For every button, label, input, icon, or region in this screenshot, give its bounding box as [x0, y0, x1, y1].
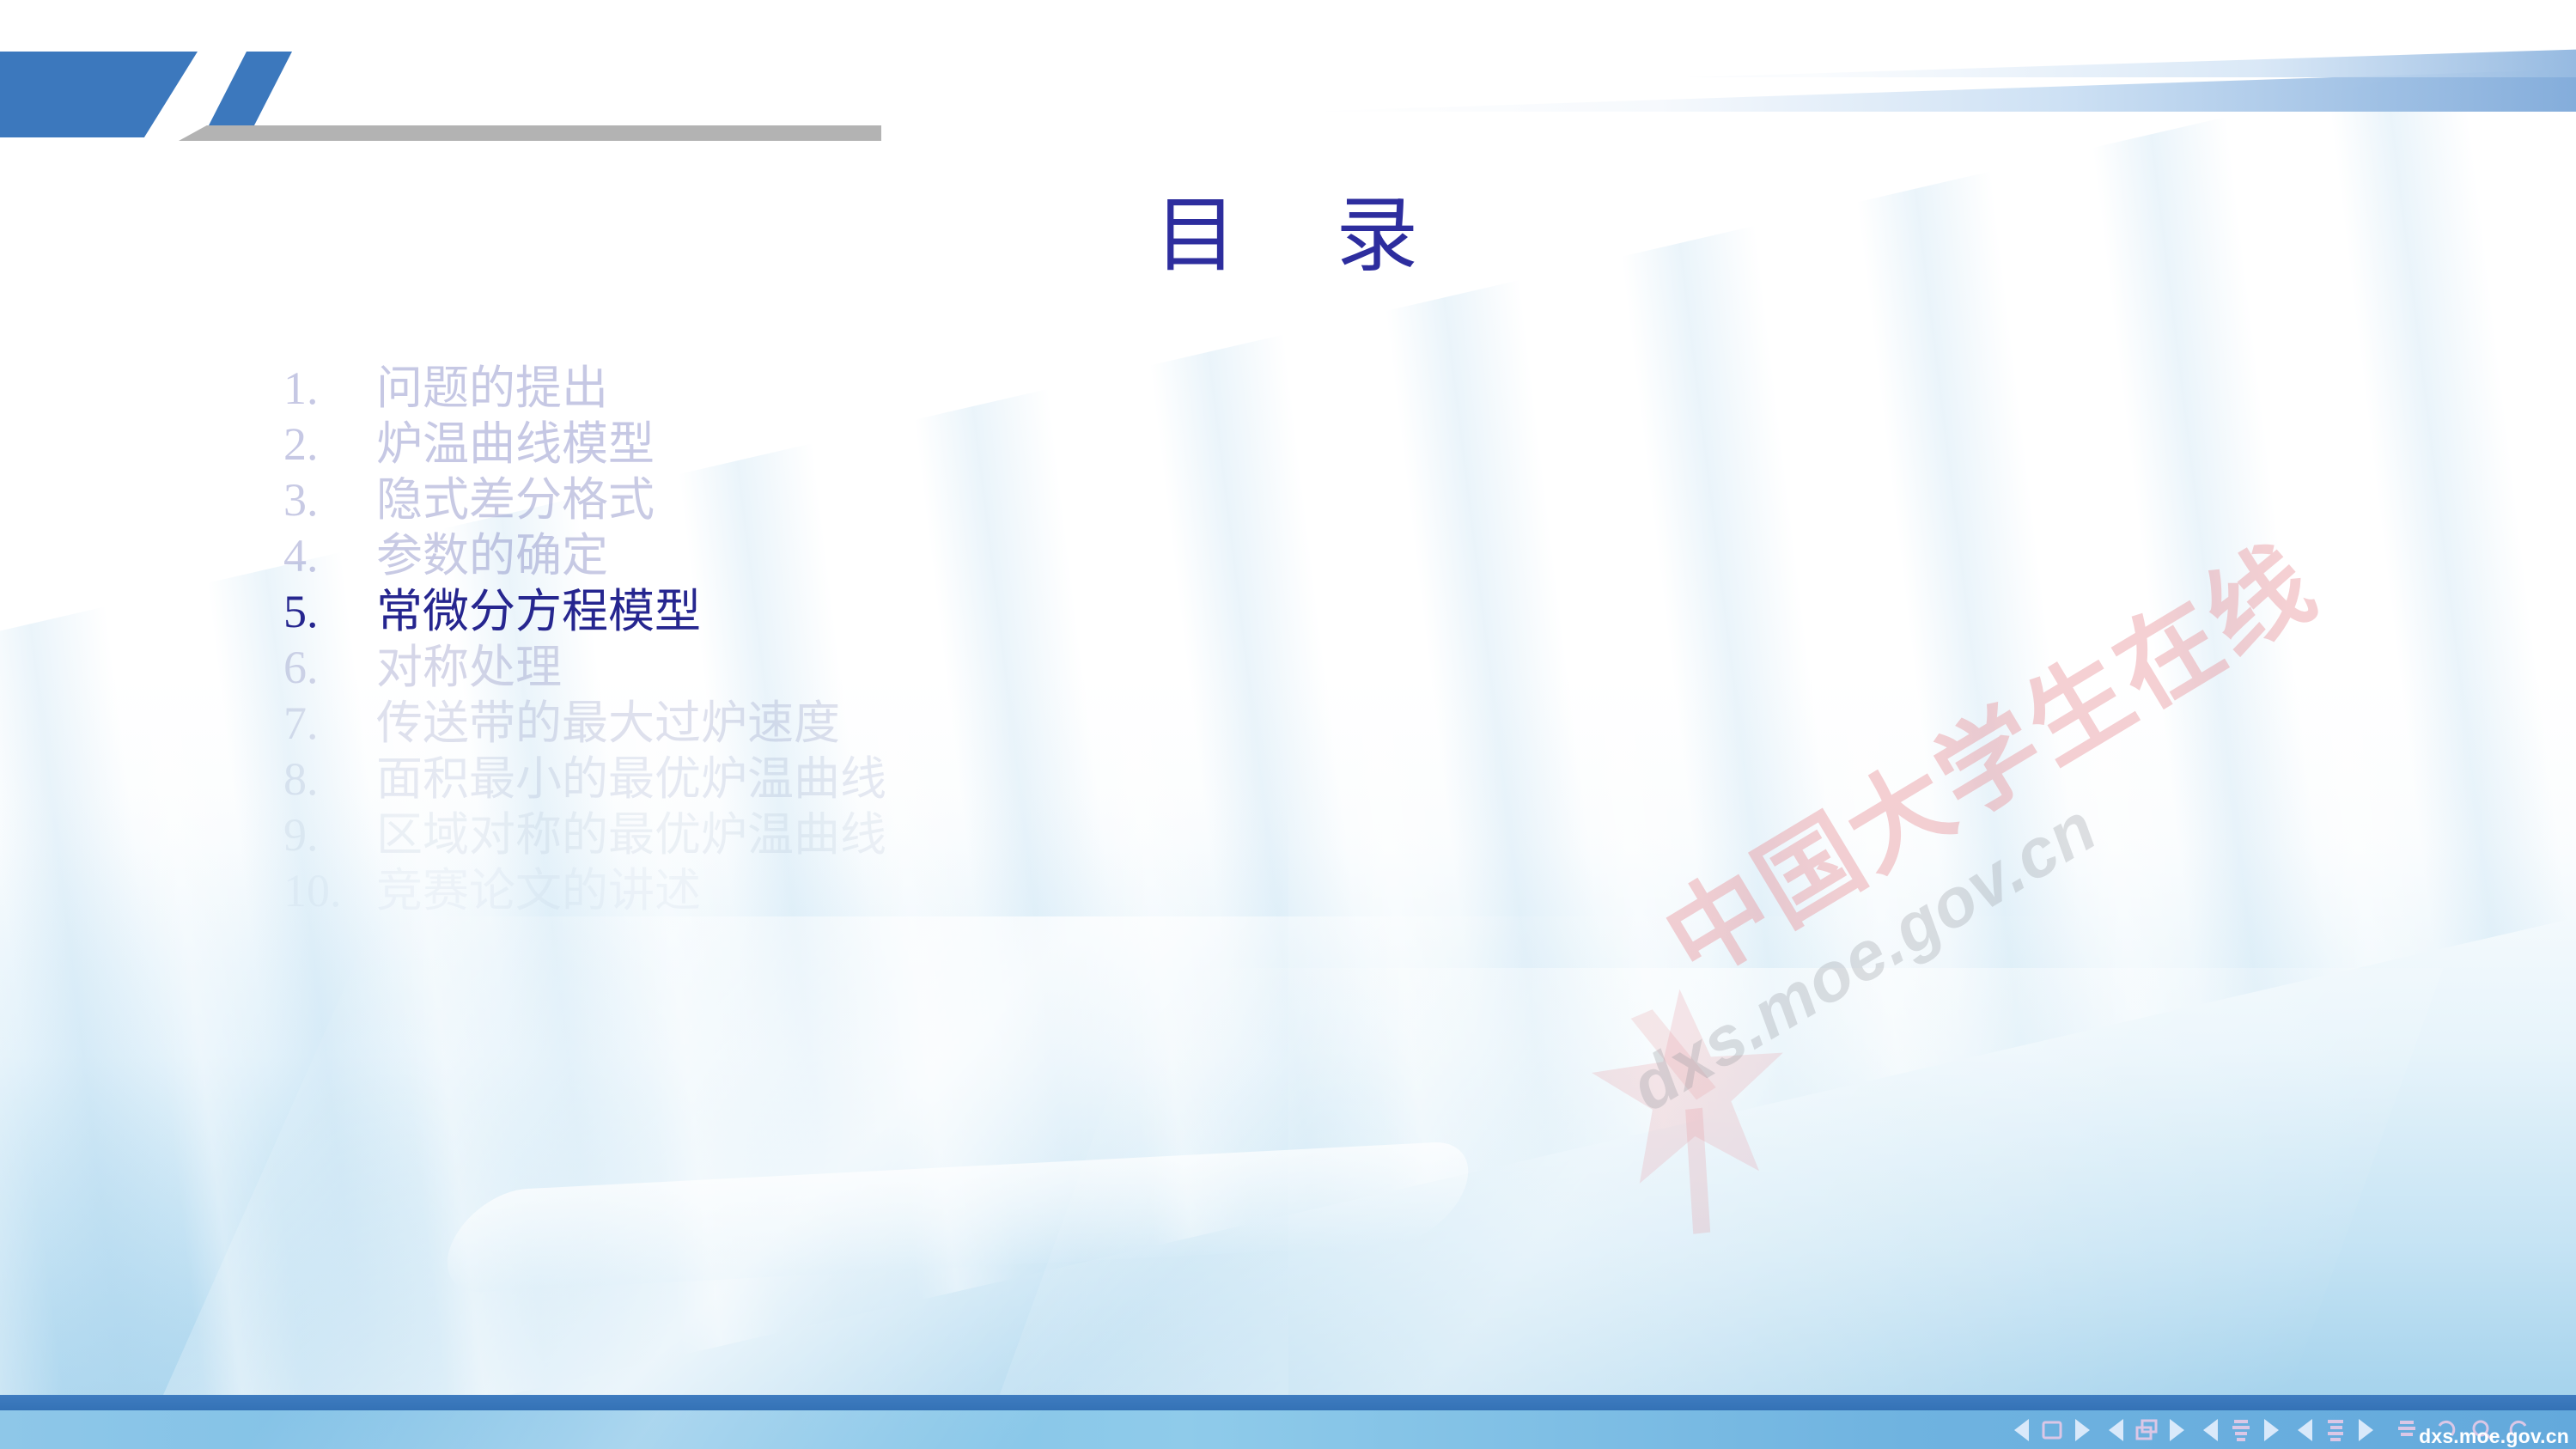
toc-item-number: 1.	[283, 361, 376, 417]
toc-item-1[interactable]: 1. 问题的提出	[283, 361, 1486, 417]
header-gradient-band-top	[1305, 0, 2576, 77]
toc-item-10[interactable]: 10. 竞赛论文的讲述	[283, 863, 1486, 919]
toc-item-label: 问题的提出	[376, 361, 608, 417]
toc-item-9[interactable]: 9. 区域对称的最优炉温曲线	[283, 807, 1486, 863]
text-lines-icon[interactable]	[2321, 1416, 2350, 1445]
next-outline-arrow-icon[interactable]	[2264, 1419, 2279, 1441]
toc-item-label: 对称处理	[376, 640, 562, 696]
footer-dark-bar	[0, 1395, 2576, 1410]
header-blue-parallelogram	[0, 52, 198, 137]
watermark: 中国大学生在线 dxs.moe.gov.cn	[1572, 601, 2560, 1254]
prev-slide-arrow-icon[interactable]	[2014, 1419, 2029, 1441]
toc-item-label: 传送带的最大过炉速度	[376, 696, 840, 752]
toc-item-number: 9.	[283, 807, 376, 863]
watermark-chinese-text: 中国大学生在线	[1634, 502, 2338, 1006]
toc-item-label: 参数的确定	[376, 528, 608, 584]
nav-group-outline[interactable]	[2203, 1416, 2279, 1445]
toc-item-7[interactable]: 7. 传送带的最大过炉速度	[283, 696, 1486, 752]
prev-text-arrow-icon[interactable]	[2298, 1419, 2312, 1441]
background-light-sweep-2	[992, 968, 2443, 1415]
toc-item-2[interactable]: 2. 炉温曲线模型	[283, 417, 1486, 472]
page-title: 目 录	[0, 191, 2576, 282]
prev-outline-arrow-icon[interactable]	[2203, 1419, 2218, 1441]
toc-item-label: 面积最小的最优炉温曲线	[376, 752, 886, 807]
next-slide-arrow-icon[interactable]	[2075, 1419, 2090, 1441]
single-slide-icon[interactable]	[2037, 1416, 2067, 1445]
nav-group-slide[interactable]	[2014, 1416, 2090, 1445]
list-icon[interactable]	[2392, 1416, 2421, 1445]
toc-item-label: 隐式差分格式	[376, 472, 655, 528]
background-ridge	[429, 1140, 1486, 1294]
background-light-sweep-1	[139, 916, 2180, 1449]
watermark-url-text: dxs.moe.gov.cn	[1617, 788, 2110, 1127]
header-blue-slash	[206, 52, 292, 125]
next-stack-arrow-icon[interactable]	[2170, 1419, 2184, 1441]
toc-item-4[interactable]: 4. 参数的确定	[283, 528, 1486, 584]
prev-stack-arrow-icon[interactable]	[2109, 1419, 2123, 1441]
footer-url-text: dxs.moe.gov.cn	[2419, 1425, 2569, 1448]
nav-group-text[interactable]	[2298, 1416, 2373, 1445]
toc-item-number: 5.	[283, 584, 376, 640]
toc-item-number: 6.	[283, 640, 376, 696]
toc-item-label: 炉温曲线模型	[376, 417, 655, 472]
outline-lines-icon[interactable]	[2226, 1416, 2256, 1445]
toc-item-number: 7.	[283, 696, 376, 752]
toc-item-number: 8.	[283, 752, 376, 807]
toc-item-label: 常微分方程模型	[376, 584, 701, 640]
toc-item-number: 10.	[283, 863, 376, 919]
toc-item-number: 3.	[283, 472, 376, 528]
toc-item-number: 4.	[283, 528, 376, 584]
dxs-star-logo-icon	[1576, 968, 1825, 1248]
toc-item-label: 区域对称的最优炉温曲线	[376, 807, 886, 863]
toc-item-8[interactable]: 8. 面积最小的最优炉温曲线	[283, 752, 1486, 807]
toc-item-6[interactable]: 6. 对称处理	[283, 640, 1486, 696]
toc-item-label: 竞赛论文的讲述	[376, 863, 701, 919]
slide-canvas: 目 录 1. 问题的提出 2. 炉温曲线模型 3. 隐式差分格式 4. 参数的确…	[0, 0, 2576, 1449]
next-text-arrow-icon[interactable]	[2359, 1419, 2373, 1441]
header-gray-bar	[179, 125, 881, 141]
nav-group-stacked[interactable]	[2109, 1416, 2184, 1445]
toc-list: 1. 问题的提出 2. 炉温曲线模型 3. 隐式差分格式 4. 参数的确定 5.…	[283, 361, 1486, 919]
toc-item-number: 2.	[283, 417, 376, 472]
toc-item-5-active[interactable]: 5. 常微分方程模型	[283, 584, 1486, 640]
stacked-slides-icon[interactable]	[2132, 1416, 2161, 1445]
toc-item-3[interactable]: 3. 隐式差分格式	[283, 472, 1486, 528]
